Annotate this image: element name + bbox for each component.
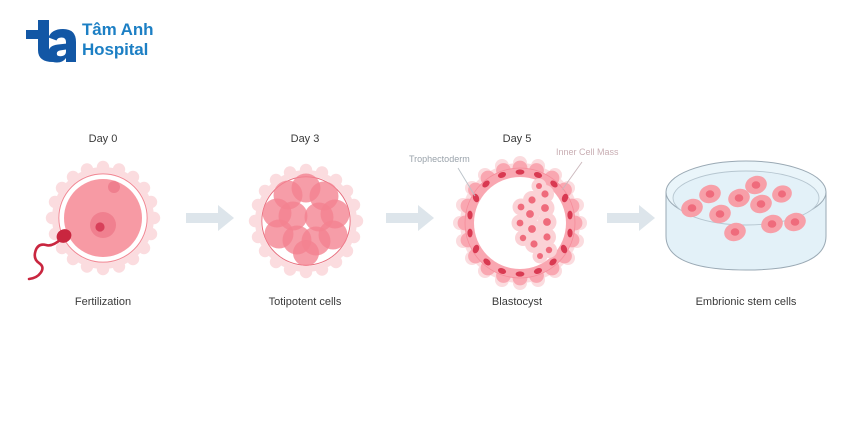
brand-name-line2: Hospital	[82, 40, 182, 60]
brand-logo[interactable]: Tâm Anh Hospital	[22, 18, 182, 66]
caption-stem-cells: Embrionic stem cells	[686, 296, 806, 309]
brand-name-line1: Tâm Anh	[82, 20, 182, 40]
figure-morula	[243, 158, 369, 284]
nucleolus	[95, 222, 104, 231]
brand-wordmark: Tâm Anh Hospital	[82, 20, 182, 64]
day-label-fertilization: Day 0	[63, 133, 143, 146]
leader-line-trophectoderm	[458, 168, 475, 196]
figure-petri-dish	[660, 152, 832, 287]
arrow-right-icon-3	[607, 204, 657, 232]
caption-blastocyst: Blastocyst	[467, 296, 567, 309]
arrow-right-icon-1	[186, 204, 236, 232]
caption-totipotent: Totipotent cells	[250, 296, 360, 309]
diagram-canvas: Tâm Anh Hospital Day 0	[0, 0, 847, 443]
annotation-leader-lines	[400, 140, 620, 250]
caption-fertilization: Fertilization	[53, 296, 153, 309]
figure-fertilized-egg	[18, 155, 188, 290]
leader-line-inner-cell-mass	[562, 162, 582, 190]
ta-logomark-icon	[22, 18, 77, 63]
polar-body	[108, 181, 120, 193]
day-label-totipotent: Day 3	[265, 133, 345, 146]
